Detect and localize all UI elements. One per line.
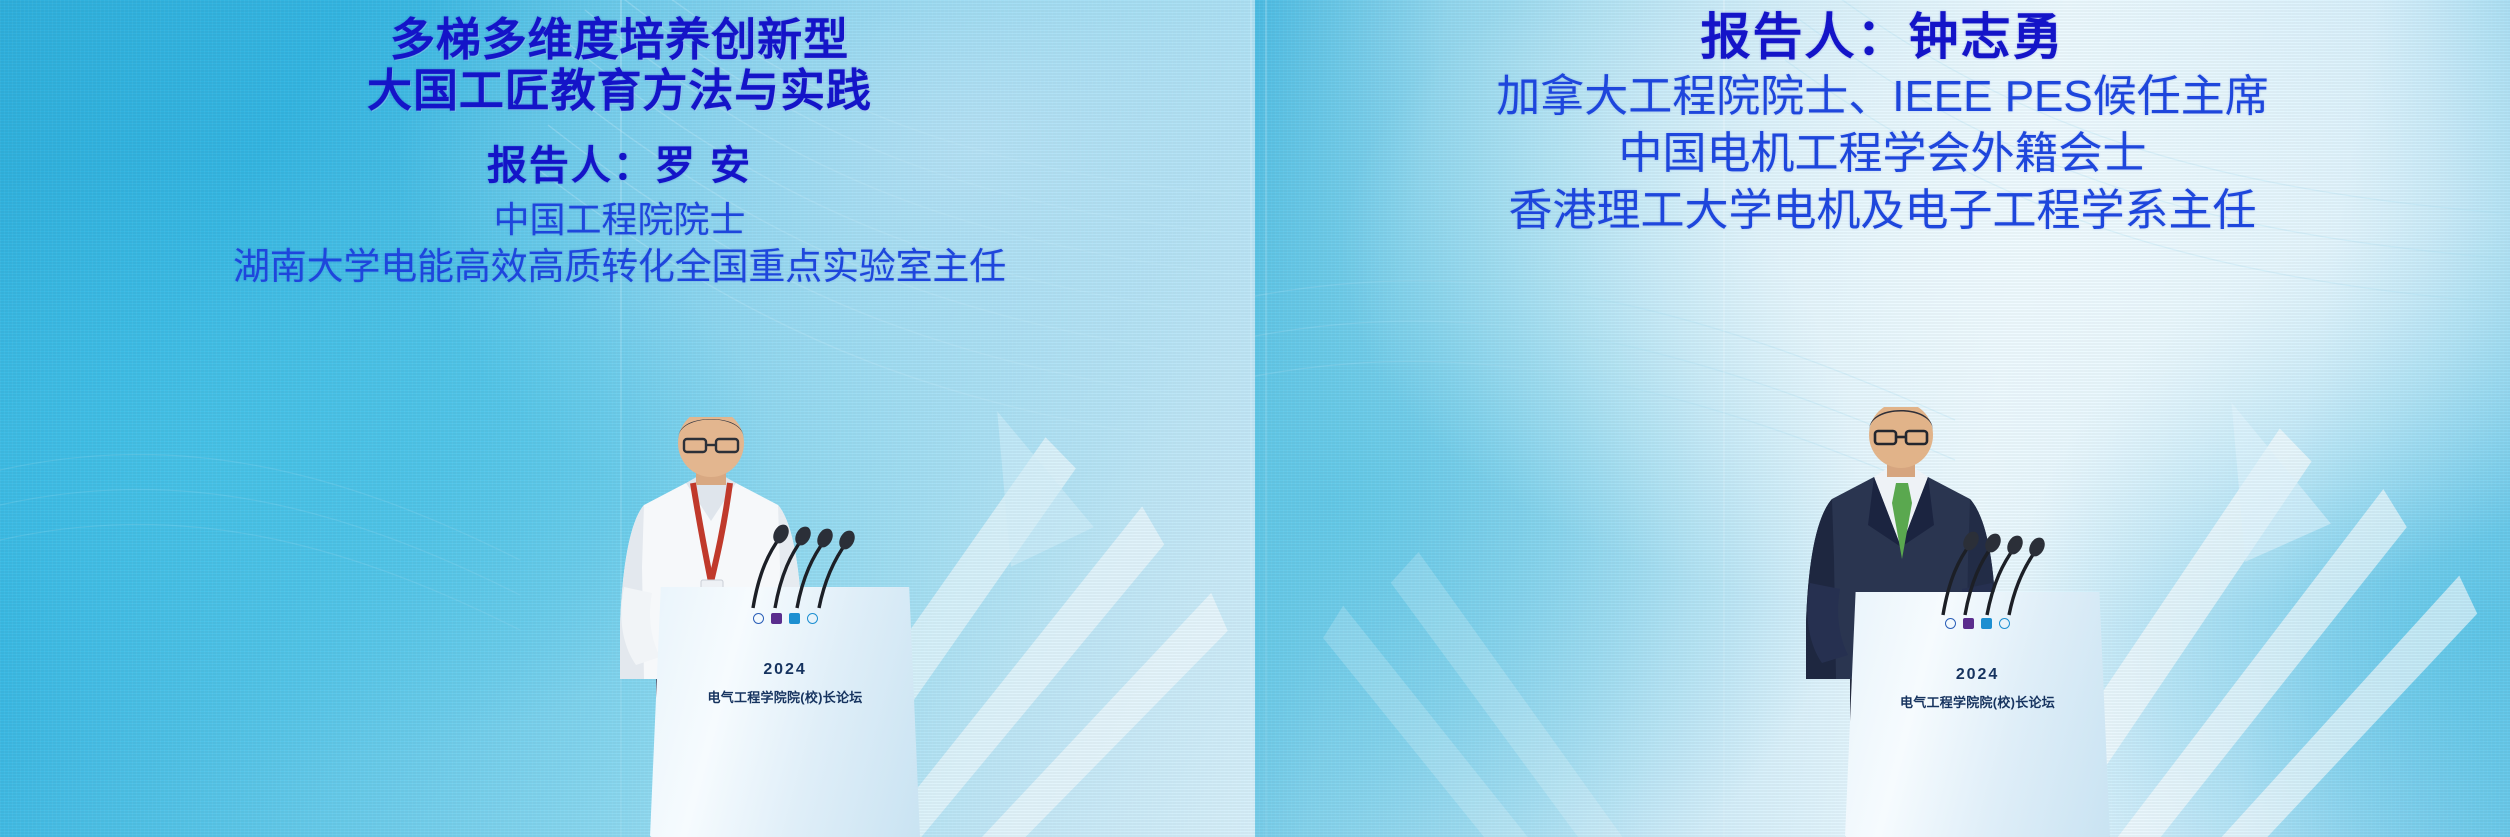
right-podium-forum-name: 电气工程学院院(校)长论坛 (1845, 692, 2110, 711)
right-speaker-name: 报告人：钟志勇 (1255, 8, 2510, 67)
left-screen-text: 多梯多维度培养创新型 大国工匠教育方法与实践 报告人：罗 安 中国工程院院士 湖… (0, 14, 1255, 289)
left-affiliation-line-2: 湖南大学电能高效高质转化全国重点实验室主任 (0, 245, 1239, 289)
left-podium-year: 2024 (650, 661, 920, 679)
right-podium-logos (1845, 618, 2110, 629)
left-title-line-2: 大国工匠教育方法与实践 (0, 65, 1239, 116)
text-logo-icon (789, 613, 800, 624)
left-panel: 多梯多维度培养创新型 大国工匠教育方法与实践 报告人：罗 安 中国工程院院士 湖… (0, 0, 1255, 837)
left-podium-logos (650, 613, 920, 624)
left-speaker-name: 报告人：罗 安 (0, 143, 1239, 190)
right-panel: 报告人：钟志勇 加拿大工程院院士、IEEE PES候任主席 中国电机工程学会外籍… (1255, 0, 2510, 837)
left-microphones (745, 522, 875, 612)
oval-logo-icon (807, 613, 818, 624)
right-microphones (1935, 529, 2065, 619)
right-screen-text: 报告人：钟志勇 加拿大工程院院士、IEEE PES候任主席 中国电机工程学会外籍… (1255, 8, 2510, 237)
two-panel-composite: 多梯多维度培养创新型 大国工匠教育方法与实践 报告人：罗 安 中国工程院院士 湖… (0, 0, 2510, 837)
square-logo-icon (771, 613, 782, 624)
square-logo-icon (1963, 618, 1974, 629)
left-affiliation-line-1: 中国工程院院士 (0, 198, 1239, 241)
text-logo-icon (1981, 618, 1992, 629)
right-podium-year: 2024 (1845, 666, 2110, 684)
oval-logo-icon (1999, 618, 2010, 629)
right-affiliation-line-1: 加拿大工程院院士、IEEE PES候任主席 (1255, 71, 2510, 124)
right-affiliation-line-2: 中国电机工程学会外籍会士 (1255, 128, 2510, 181)
left-podium-face (650, 587, 920, 837)
left-podium: 2024 电气工程学院院(校)长论坛 (650, 587, 920, 837)
left-title-line-1: 多梯多维度培养创新型 (0, 14, 1239, 65)
left-podium-forum-name: 电气工程学院院(校)长论坛 (650, 687, 920, 706)
circle-logo-icon (1945, 618, 1956, 629)
right-affiliation-line-3: 香港理工大学电机及电子工程学系主任 (1255, 185, 2510, 238)
right-podium: 2024 电气工程学院院(校)长论坛 (1845, 592, 2110, 837)
circle-logo-icon (753, 613, 764, 624)
